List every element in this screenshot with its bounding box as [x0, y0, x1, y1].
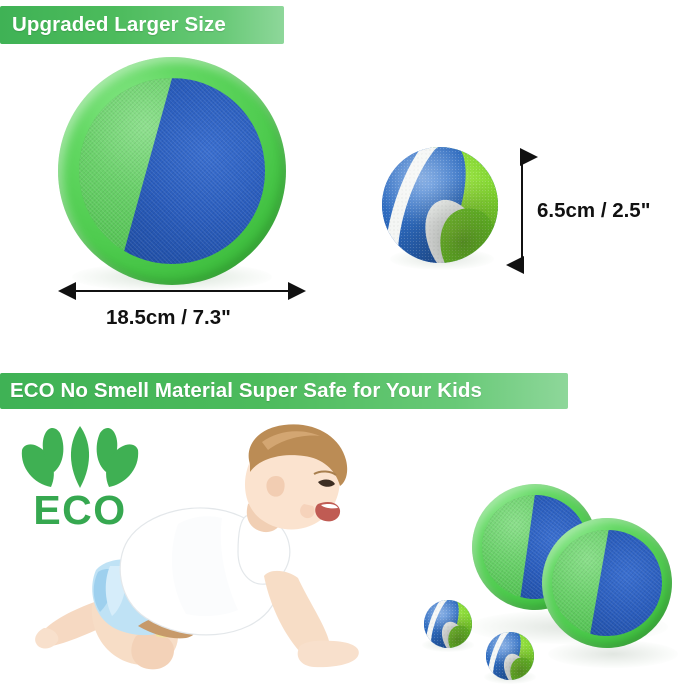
paddle-velcro-face: [79, 78, 265, 264]
velcro-texture: [79, 78, 265, 264]
photo-crawling-baby: [18, 420, 418, 684]
banner-eco-safe-label: ECO No Smell Material Super Safe for You…: [10, 379, 482, 403]
banner-upgraded-size-label: Upgraded Larger Size: [12, 13, 226, 37]
dimension-label-paddle-width: 18.5cm / 7.3": [106, 306, 231, 330]
ball-shading: [382, 147, 498, 263]
banner-eco-safe: ECO No Smell Material Super Safe for You…: [0, 373, 568, 409]
ball-shading: [424, 600, 472, 648]
banner-upgraded-size: Upgraded Larger Size: [0, 6, 284, 44]
baby-ear: [266, 476, 284, 497]
dimension-label-ball-height: 6.5cm / 2.5": [537, 199, 650, 223]
paddle-velcro-face: [549, 526, 665, 640]
dimension-arrow-ball-height: [512, 150, 532, 272]
product-image-ball-large: [382, 147, 498, 263]
ball-shading: [486, 632, 534, 680]
product-cluster-set: [408, 480, 679, 684]
dimension-arrow-paddle-width: [68, 283, 296, 299]
product-image-ball-small-2: [486, 632, 534, 680]
product-image-paddle-large: [58, 57, 286, 285]
baby-hand: [298, 641, 359, 667]
velcro-texture: [549, 526, 665, 640]
product-image-paddle-front: [538, 514, 677, 653]
product-image-ball-small-1: [424, 600, 472, 648]
